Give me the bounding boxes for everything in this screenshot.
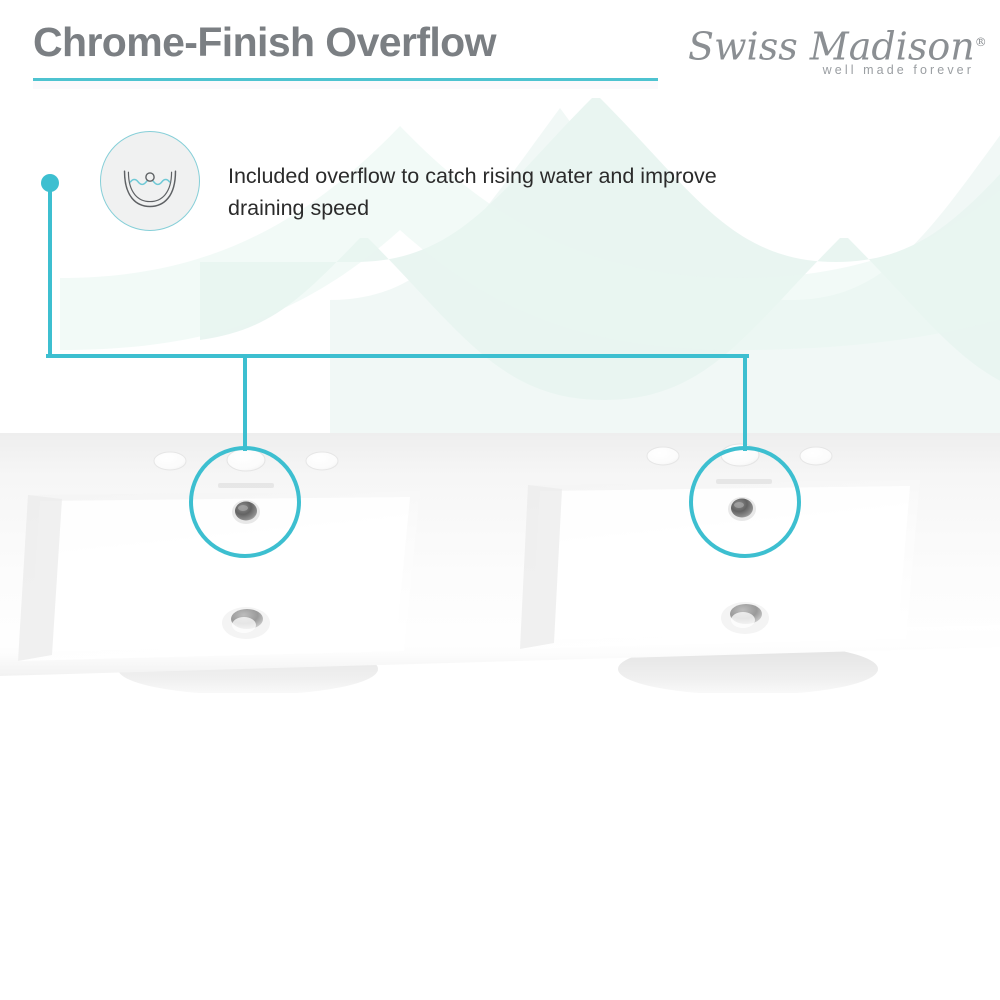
title-underline xyxy=(33,78,658,81)
left-faucet-hole-1 xyxy=(154,452,186,470)
feature-description: Included overflow to catch rising water … xyxy=(228,160,728,224)
wave-shape-front xyxy=(200,98,1000,400)
right-brand-stamp xyxy=(716,479,772,484)
callout-origin-dot xyxy=(41,174,59,192)
right-overflow-chrome xyxy=(731,499,753,518)
right-faucet-hole-1 xyxy=(647,447,679,465)
left-faucet-hole-2 xyxy=(227,449,265,471)
right-drain-inner xyxy=(731,612,755,628)
left-overflow-chrome xyxy=(235,502,257,521)
right-faucet-hole-2 xyxy=(721,444,759,466)
wave-shape-back xyxy=(330,108,1000,440)
product-image-vanity-top xyxy=(0,433,1000,693)
sink-overflow-icon xyxy=(100,131,200,231)
right-overflow-glint xyxy=(734,502,744,508)
left-drain-inner xyxy=(232,617,256,633)
left-brand-stamp xyxy=(218,483,274,488)
left-faucet-hole-3 xyxy=(306,452,338,470)
header: Chrome-Finish Overflow xyxy=(0,0,1000,100)
page-title: Chrome-Finish Overflow xyxy=(33,18,496,66)
infographic-page: Chrome-Finish Overflow Swiss Madison® we… xyxy=(0,0,1000,1000)
left-overflow-glint xyxy=(238,505,248,511)
right-faucet-hole-3 xyxy=(800,447,832,465)
title-underline-soft xyxy=(33,81,658,89)
